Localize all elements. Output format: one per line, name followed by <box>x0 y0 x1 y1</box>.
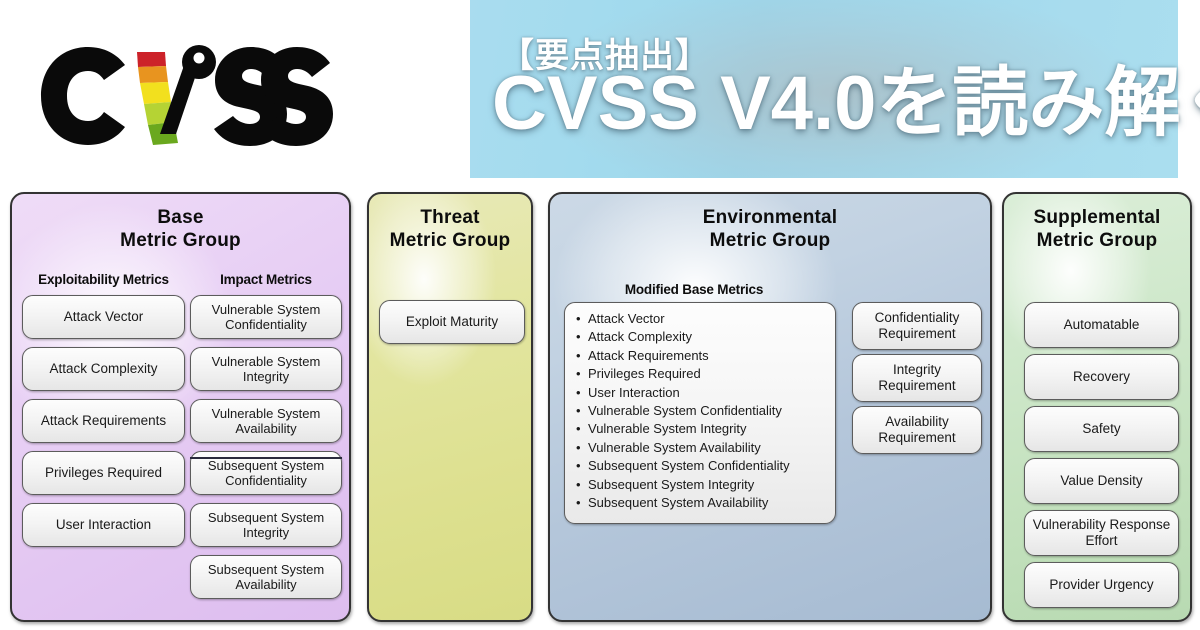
panel-threat-title-line2: Metric Group <box>369 229 531 252</box>
base-impact-divider <box>190 457 342 459</box>
cvss-logo <box>36 42 336 150</box>
metric-chip-vulnerability-response-effort[interactable]: Vulnerability Response Effort <box>1024 510 1179 556</box>
panel-supplemental-title: Supplemental Metric Group <box>1004 206 1190 252</box>
panel-environmental-metric-group: Environmental Metric Group Modified Base… <box>548 192 992 622</box>
panel-supplemental-title-line1: Supplemental <box>1004 206 1190 229</box>
panel-supplemental-title-line2: Metric Group <box>1004 229 1190 252</box>
metric-chip-availability-requirement[interactable]: Availability Requirement <box>852 406 982 454</box>
list-item: Attack Requirements <box>588 347 829 365</box>
list-item: Subsequent System Availability <box>588 494 829 512</box>
metric-chip-privileges-required[interactable]: Privileges Required <box>22 451 185 495</box>
panel-base-metric-group: Base Metric Group Exploitability Metrics… <box>10 192 351 622</box>
list-item: Vulnerable System Confidentiality <box>588 402 829 420</box>
panel-base-title-line1: Base <box>12 206 349 229</box>
panel-environmental-title: Environmental Metric Group <box>550 206 990 252</box>
list-item: Privileges Required <box>588 365 829 383</box>
metric-chip-attack-complexity[interactable]: Attack Complexity <box>22 347 185 391</box>
list-item: User Interaction <box>588 384 829 402</box>
list-item: Attack Vector <box>588 310 829 328</box>
metric-chip-vulnerable-system-integrity[interactable]: Vulnerable System Integrity <box>190 347 342 391</box>
panel-threat-metric-group: Threat Metric Group Exploit Maturity <box>367 192 533 622</box>
environmental-modified-base-metrics-box[interactable]: Attack Vector Attack Complexity Attack R… <box>564 302 836 524</box>
metric-chip-integrity-requirement[interactable]: Integrity Requirement <box>852 354 982 402</box>
panel-threat-title-line1: Threat <box>369 206 531 229</box>
base-impact-header: Impact Metrics <box>190 272 342 287</box>
metric-chip-confidentiality-requirement[interactable]: Confidentiality Requirement <box>852 302 982 350</box>
metric-chip-vulnerable-system-confidentiality[interactable]: Vulnerable System Confidentiality <box>190 295 342 339</box>
metric-chip-subsequent-system-integrity[interactable]: Subsequent System Integrity <box>190 503 342 547</box>
base-impact-column: Impact Metrics Vulnerable System Confide… <box>190 272 342 607</box>
environmental-modified-base-metrics-list: Attack Vector Attack Complexity Attack R… <box>571 310 829 512</box>
title-banner: 【要点抽出】 CVSS V4.0を読み解く <box>470 0 1178 178</box>
banner-title: CVSS V4.0を読み解く <box>492 64 1200 144</box>
environmental-requirements-column: Confidentiality Requirement Integrity Re… <box>852 302 982 458</box>
metric-chip-recovery[interactable]: Recovery <box>1024 354 1179 400</box>
panel-environmental-title-line2: Metric Group <box>550 229 990 252</box>
panel-environmental-title-line1: Environmental <box>550 206 990 229</box>
supplemental-metric-list: Automatable Recovery Safety Value Densit… <box>1024 302 1179 614</box>
list-item: Attack Complexity <box>588 328 829 346</box>
metric-chip-exploit-maturity[interactable]: Exploit Maturity <box>379 300 525 344</box>
header-region: 【要点抽出】 CVSS V4.0を読み解く <box>0 0 1200 190</box>
panel-threat-title: Threat Metric Group <box>369 206 531 252</box>
panel-base-title-line2: Metric Group <box>12 229 349 252</box>
metric-chip-safety[interactable]: Safety <box>1024 406 1179 452</box>
threat-metric-list: Exploit Maturity <box>379 300 525 344</box>
list-item: Vulnerable System Integrity <box>588 420 829 438</box>
metric-chip-attack-requirements[interactable]: Attack Requirements <box>22 399 185 443</box>
list-item: Subsequent System Confidentiality <box>588 457 829 475</box>
metric-chip-attack-vector[interactable]: Attack Vector <box>22 295 185 339</box>
base-exploitability-column: Exploitability Metrics Attack Vector Att… <box>22 272 185 555</box>
metric-chip-value-density[interactable]: Value Density <box>1024 458 1179 504</box>
metric-chip-user-interaction[interactable]: User Interaction <box>22 503 185 547</box>
environmental-modified-base-metrics-header: Modified Base Metrics <box>564 282 824 297</box>
metric-chip-automatable[interactable]: Automatable <box>1024 302 1179 348</box>
base-exploitability-header: Exploitability Metrics <box>22 272 185 287</box>
panel-base-title: Base Metric Group <box>12 206 349 252</box>
metric-chip-vulnerable-system-availability[interactable]: Vulnerable System Availability <box>190 399 342 443</box>
panel-supplemental-metric-group: Supplemental Metric Group Automatable Re… <box>1002 192 1192 622</box>
metric-chip-subsequent-system-availability[interactable]: Subsequent System Availability <box>190 555 342 599</box>
list-item: Vulnerable System Availability <box>588 439 829 457</box>
list-item: Subsequent System Integrity <box>588 476 829 494</box>
metric-chip-provider-urgency[interactable]: Provider Urgency <box>1024 562 1179 608</box>
